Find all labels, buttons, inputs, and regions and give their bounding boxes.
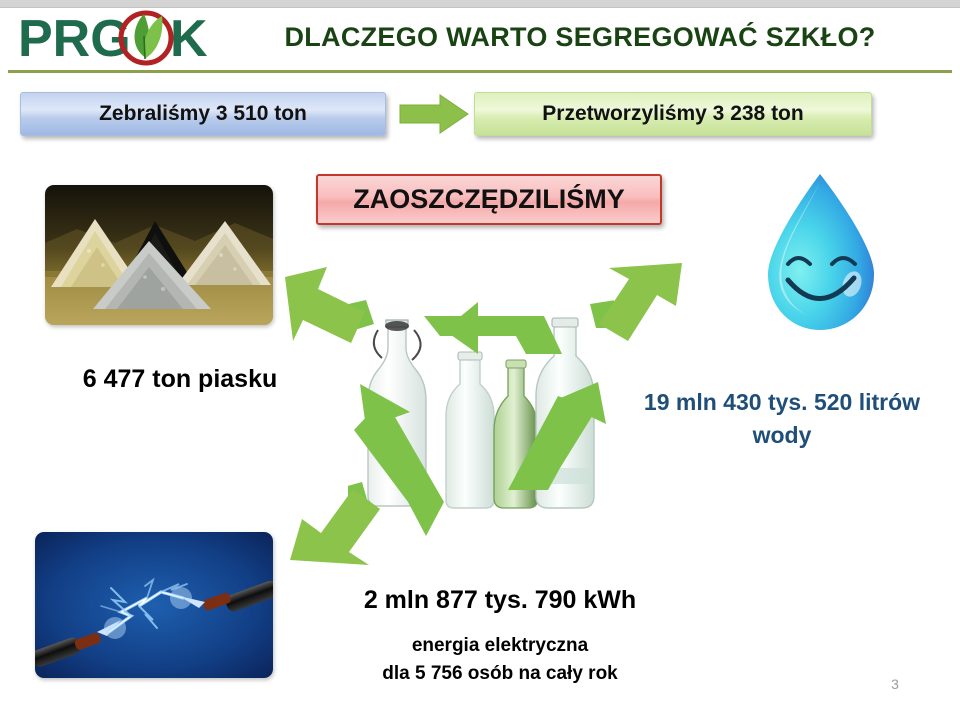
header-divider [8,70,952,73]
page-title: DLACZEGO WARTO SEGREGOWAĆ SZKŁO? [230,22,930,53]
savings-heading-box: ZAOSZCZĘDZILIŚMY [316,174,662,225]
banner-processed-label: Przetworzyliśmy 3 238 ton [542,102,803,126]
logo-leaves-icon [135,14,163,59]
page-number: 3 [880,676,910,692]
smiling-water-drop-icon [748,168,898,338]
energy-label-sub-line2: dla 5 756 osób na cały rok [382,663,618,684]
glass-bottles-recycling-image [348,300,614,542]
right-arrow-icon [398,93,470,135]
water-label-line2: wody [753,422,812,448]
electric-arc-photo [35,532,273,678]
banner-processed: Przetworzyliśmy 3 238 ton [474,92,872,136]
prgok-logo: PRG K [18,8,223,70]
slide-canvas: PRG K DLACZEGO WARTO SEGREGOWAĆ SZKŁO? Z… [0,0,960,720]
logo-text-k: K [170,10,208,68]
banner-collected: Zebraliśmy 3 510 ton [20,92,386,136]
savings-heading-label: ZAOSZCZĘDZILIŚMY [353,184,625,215]
energy-label-sub-line1: energia elektryczna [412,635,588,656]
water-label-line1: 19 mln 430 tys. 520 litrów [644,389,920,415]
sand-piles-photo [45,185,273,325]
top-strip [0,0,960,8]
bottle-middle [446,352,494,508]
sand-label: 6 477 ton piasku [30,365,330,394]
energy-label-main: 2 mln 877 tys. 790 kWh [290,586,710,615]
logo-text-prg: PRG [18,10,131,68]
banner-collected-label: Zebraliśmy 3 510 ton [99,102,307,126]
water-label: 19 mln 430 tys. 520 litrów wody [608,386,956,451]
energy-label-sub: energia elektryczna dla 5 756 osób na ca… [290,632,710,687]
